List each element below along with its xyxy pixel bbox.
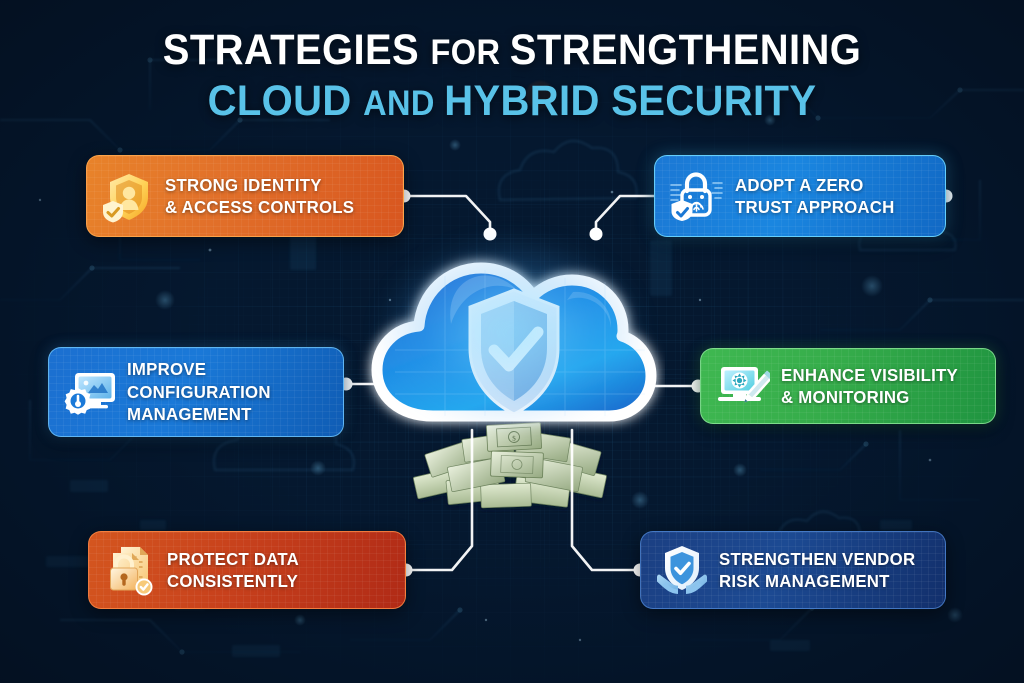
title-line1-for: FOR [431, 33, 510, 72]
documents-padlock-check-icon [101, 541, 159, 599]
strategy-card-vendor[interactable]: STRENGTHEN VENDOR RISK MANAGEMENT [640, 531, 946, 609]
page-title: STRATEGIES FOR STRENGTHENING CLOUD AND H… [0, 28, 1024, 124]
title-line-2: CLOUD AND HYBRID SECURITY [36, 79, 988, 124]
strategy-card-zerotrust[interactable]: ADOPT A ZERO TRUST APPROACH [654, 155, 946, 237]
central-cloud-graphic [355, 220, 665, 450]
hands-shield-check-icon [653, 541, 711, 599]
cloud-glow [375, 234, 647, 430]
laptop-pencil-icon [713, 357, 771, 415]
strategy-label-vendor: STRENGTHEN VENDOR RISK MANAGEMENT [719, 548, 915, 593]
title-line2-part-b: HYBRID SECURITY [444, 77, 816, 125]
shield-user-check-icon [99, 167, 157, 225]
infographic-canvas: STRATEGIES FOR STRENGTHENING CLOUD AND H… [0, 0, 1024, 683]
strategy-label-zerotrust: ADOPT A ZERO TRUST APPROACH [735, 174, 895, 219]
strategy-label-identity: STRONG IDENTITY & ACCESS CONTROLS [165, 174, 354, 219]
title-line2-and: AND [363, 84, 444, 123]
title-line1-part-b: STRENGTHENING [510, 26, 861, 74]
title-line2-part-a: CLOUD [208, 77, 364, 125]
title-line1-part-a: STRATEGIES [163, 26, 431, 74]
title-line-1: STRATEGIES FOR STRENGTHENING [36, 28, 988, 73]
strategy-label-visibility: ENHANCE VISIBILITY & MONITORING [781, 364, 958, 409]
monitor-gear-icon [61, 363, 119, 421]
strategy-card-config[interactable]: IMPROVE CONFIGURATION MANAGEMENT [48, 347, 344, 437]
strategy-card-identity[interactable]: STRONG IDENTITY & ACCESS CONTROLS [86, 155, 404, 237]
strategy-label-protect: PROTECT DATA CONSISTENTLY [167, 548, 299, 593]
padlock-fingerprint-icon [667, 167, 725, 225]
strategy-label-config: IMPROVE CONFIGURATION MANAGEMENT [127, 358, 271, 425]
strategy-card-protect[interactable]: PROTECT DATA CONSISTENTLY [88, 531, 406, 609]
strategy-card-visibility[interactable]: ENHANCE VISIBILITY & MONITORING [700, 348, 996, 424]
